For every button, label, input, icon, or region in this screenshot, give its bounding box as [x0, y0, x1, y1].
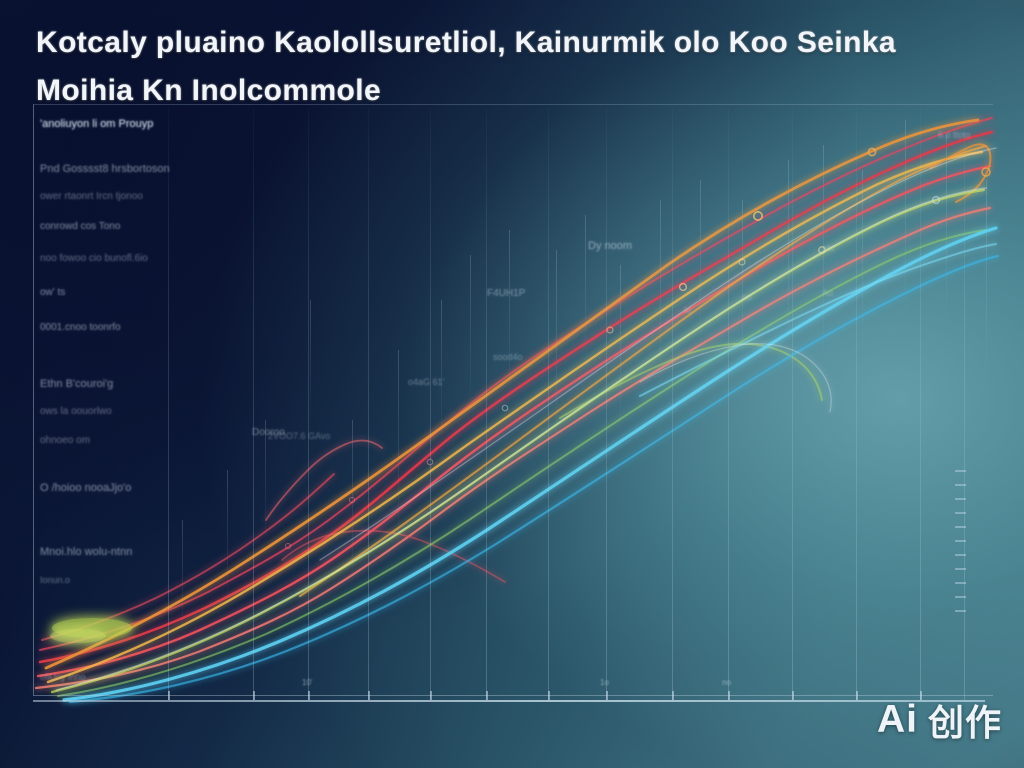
gridline-vertical — [856, 108, 857, 700]
side-note: Ionun.o — [40, 575, 70, 585]
x-tick-label: 10' — [302, 678, 312, 687]
page-title-line1: Kotcaly pluaino Kaolollsuretliol, Kainur… — [36, 26, 896, 60]
chart-annotation: o4aG 61' — [408, 377, 444, 387]
plot-frame — [33, 104, 993, 696]
side-note: Ethn B'couroi'g — [40, 378, 113, 390]
x-tick — [168, 691, 170, 700]
y-tick-right — [955, 568, 966, 570]
chart-annotation: oo — [742, 292, 752, 302]
x-tick — [308, 691, 310, 700]
y-tick-right — [955, 540, 966, 542]
watermark-ai-logo: Ai — [877, 698, 918, 742]
x-tick — [368, 691, 370, 700]
x-tick — [430, 691, 432, 700]
gridline-vertical — [430, 108, 431, 700]
x-tick — [672, 691, 674, 700]
page-title-line2: Moihia Kn Inolcommole — [36, 74, 381, 108]
gridline-vertical — [253, 108, 254, 700]
side-note: Mnoi.hlo wolu-ntnn — [40, 546, 132, 558]
side-note: ower rtaonrt Ircn tjonoo — [40, 191, 143, 202]
x-axis-line — [33, 700, 985, 702]
x-tick — [548, 691, 550, 700]
y-tick-right — [955, 582, 966, 584]
gridline-vertical — [368, 108, 369, 700]
x-tick — [486, 691, 488, 700]
y-tick-right — [955, 610, 966, 612]
chart-canvas: 10'1ono 'anoliuyon li om ProuypPnd Gosss… — [0, 0, 1024, 768]
side-note: Pnd Gosssst8 hrsbortoson — [40, 163, 170, 175]
chart-annotation: 6.o ttoto — [938, 130, 971, 140]
y-tick-right — [955, 498, 966, 500]
x-tick-label: 1o — [600, 678, 609, 687]
chart-annotation: otc — [823, 243, 835, 253]
chart-annotation: lo — [684, 305, 691, 315]
y-tick-right — [955, 596, 966, 598]
side-note: ow' ts — [40, 287, 65, 298]
side-note: noo fowoo cio bunofl.6io — [40, 253, 148, 264]
x-tick — [728, 691, 730, 700]
x-tick-label: no — [722, 678, 731, 687]
side-note: ofiUny Inno — [40, 672, 86, 682]
chart-annotation: F4UH1P — [487, 288, 525, 299]
y-tick-right — [955, 512, 966, 514]
gridline-vertical — [606, 108, 607, 700]
side-note: 0001.cnoo toonrfo — [40, 322, 121, 333]
x-tick — [792, 691, 794, 700]
gridline-vertical — [672, 108, 673, 700]
y-tick-right — [955, 526, 966, 528]
chart-annotation: Ao — [822, 288, 833, 298]
watermark: Ai 创作 — [877, 694, 1002, 746]
side-note: ohnoeo om — [40, 435, 90, 446]
chart-annotation: 2VOO7.6 GAvo — [268, 431, 330, 441]
watermark-cn-text: 创作 — [928, 694, 1002, 746]
gridline-vertical — [168, 108, 169, 700]
x-tick — [253, 691, 255, 700]
y-tick-right — [955, 554, 966, 556]
chart-annotation: Dy noom — [588, 240, 632, 252]
gridline-vertical — [792, 108, 793, 700]
x-tick — [856, 691, 858, 700]
y-tick-right — [955, 484, 966, 486]
chart-annotation: sood4o — [493, 352, 523, 362]
side-note: ows la oouorlwo — [40, 406, 112, 417]
gridline-vertical — [728, 108, 729, 700]
gridline-vertical — [486, 108, 487, 700]
side-note: 'anoliuyon li om Prouyp — [40, 118, 153, 130]
gridline-vertical — [308, 108, 309, 700]
y-tick-right — [955, 470, 966, 472]
gridline-vertical — [920, 108, 921, 700]
side-note: O /hoioo nooaJjo'o — [40, 482, 131, 494]
side-note: conrowd cos Tono — [40, 221, 120, 232]
x-tick — [606, 691, 608, 700]
gridline-vertical — [548, 108, 549, 700]
